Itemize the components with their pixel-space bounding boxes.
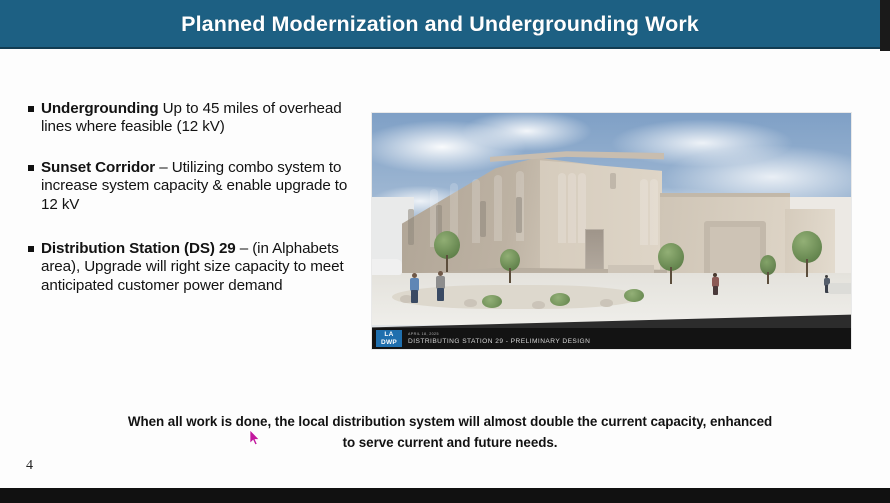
landscape-rock bbox=[532, 301, 545, 309]
parked-car bbox=[828, 283, 851, 294]
window-slot bbox=[480, 201, 486, 237]
list-item: Distribution Station (DS) 29 – (in Alpha… bbox=[28, 240, 363, 295]
pilaster bbox=[650, 179, 658, 245]
bullet-text: Sunset Corridor – Utilizing combo system… bbox=[41, 159, 363, 214]
title-bar-right-edge bbox=[880, 0, 890, 51]
window-slot bbox=[516, 197, 522, 233]
landscape-shrub bbox=[550, 293, 570, 306]
bullet-lead: Sunset Corridor bbox=[41, 159, 155, 176]
pilaster bbox=[558, 173, 566, 243]
pilaster bbox=[472, 179, 480, 243]
landscape-shrub bbox=[482, 295, 502, 308]
title-underline bbox=[0, 47, 880, 49]
caption-text-group: APRIL 18, 2025 DISTRIBUTING STATION 29 -… bbox=[408, 332, 590, 346]
footer-strip bbox=[0, 488, 890, 503]
rendering-image: LA DWP APRIL 18, 2025 DISTRIBUTING STATI… bbox=[372, 113, 851, 349]
pilaster bbox=[494, 175, 502, 241]
tree bbox=[500, 249, 520, 283]
bullet-lead: Distribution Station (DS) 29 bbox=[41, 240, 236, 257]
tree bbox=[760, 255, 776, 283]
slide: Planned Modernization and Undergrounding… bbox=[0, 0, 890, 503]
window-slot bbox=[610, 173, 616, 189]
pilaster bbox=[568, 173, 576, 243]
page-number: 4 bbox=[26, 458, 33, 474]
ladwp-logo: LA DWP bbox=[376, 330, 402, 347]
image-caption-bar: LA DWP APRIL 18, 2025 DISTRIBUTING STATI… bbox=[372, 328, 851, 349]
list-item: Sunset Corridor – Utilizing combo system… bbox=[28, 159, 363, 214]
summary-statement: When all work is done, the local distrib… bbox=[120, 411, 780, 453]
ladwp-logo-line2: DWP bbox=[376, 339, 402, 347]
list-item: Undergrounding Up to 45 miles of overhea… bbox=[28, 100, 363, 137]
pilaster bbox=[640, 179, 648, 245]
slide-title-bar: Planned Modernization and Undergrounding… bbox=[0, 0, 880, 49]
mouse-cursor-icon bbox=[249, 430, 261, 446]
square-bullet-icon bbox=[28, 106, 41, 112]
person-figure bbox=[410, 273, 419, 303]
tree bbox=[792, 231, 822, 277]
bullet-lead: Undergrounding bbox=[41, 100, 159, 117]
square-bullet-icon bbox=[28, 246, 41, 252]
person-figure bbox=[712, 273, 719, 295]
bullet-text: Undergrounding Up to 45 miles of overhea… bbox=[41, 100, 363, 137]
person-figure bbox=[436, 271, 445, 301]
window-slot bbox=[408, 209, 414, 245]
bullet-text: Distribution Station (DS) 29 – (in Alpha… bbox=[41, 240, 363, 295]
tree bbox=[434, 231, 460, 271]
square-bullet-icon bbox=[28, 165, 41, 171]
landscape-shrub bbox=[624, 289, 644, 302]
parked-car bbox=[372, 259, 402, 275]
landscape-rock bbox=[600, 299, 613, 307]
page-title: Planned Modernization and Undergrounding… bbox=[181, 12, 699, 37]
bullet-list: Undergrounding Up to 45 miles of overhea… bbox=[28, 100, 363, 317]
caption-label: DISTRIBUTING STATION 29 - PRELIMINARY DE… bbox=[408, 337, 590, 346]
ladwp-logo-line1: LA bbox=[376, 331, 402, 339]
landscape-rock bbox=[464, 299, 477, 307]
tree bbox=[658, 243, 684, 283]
